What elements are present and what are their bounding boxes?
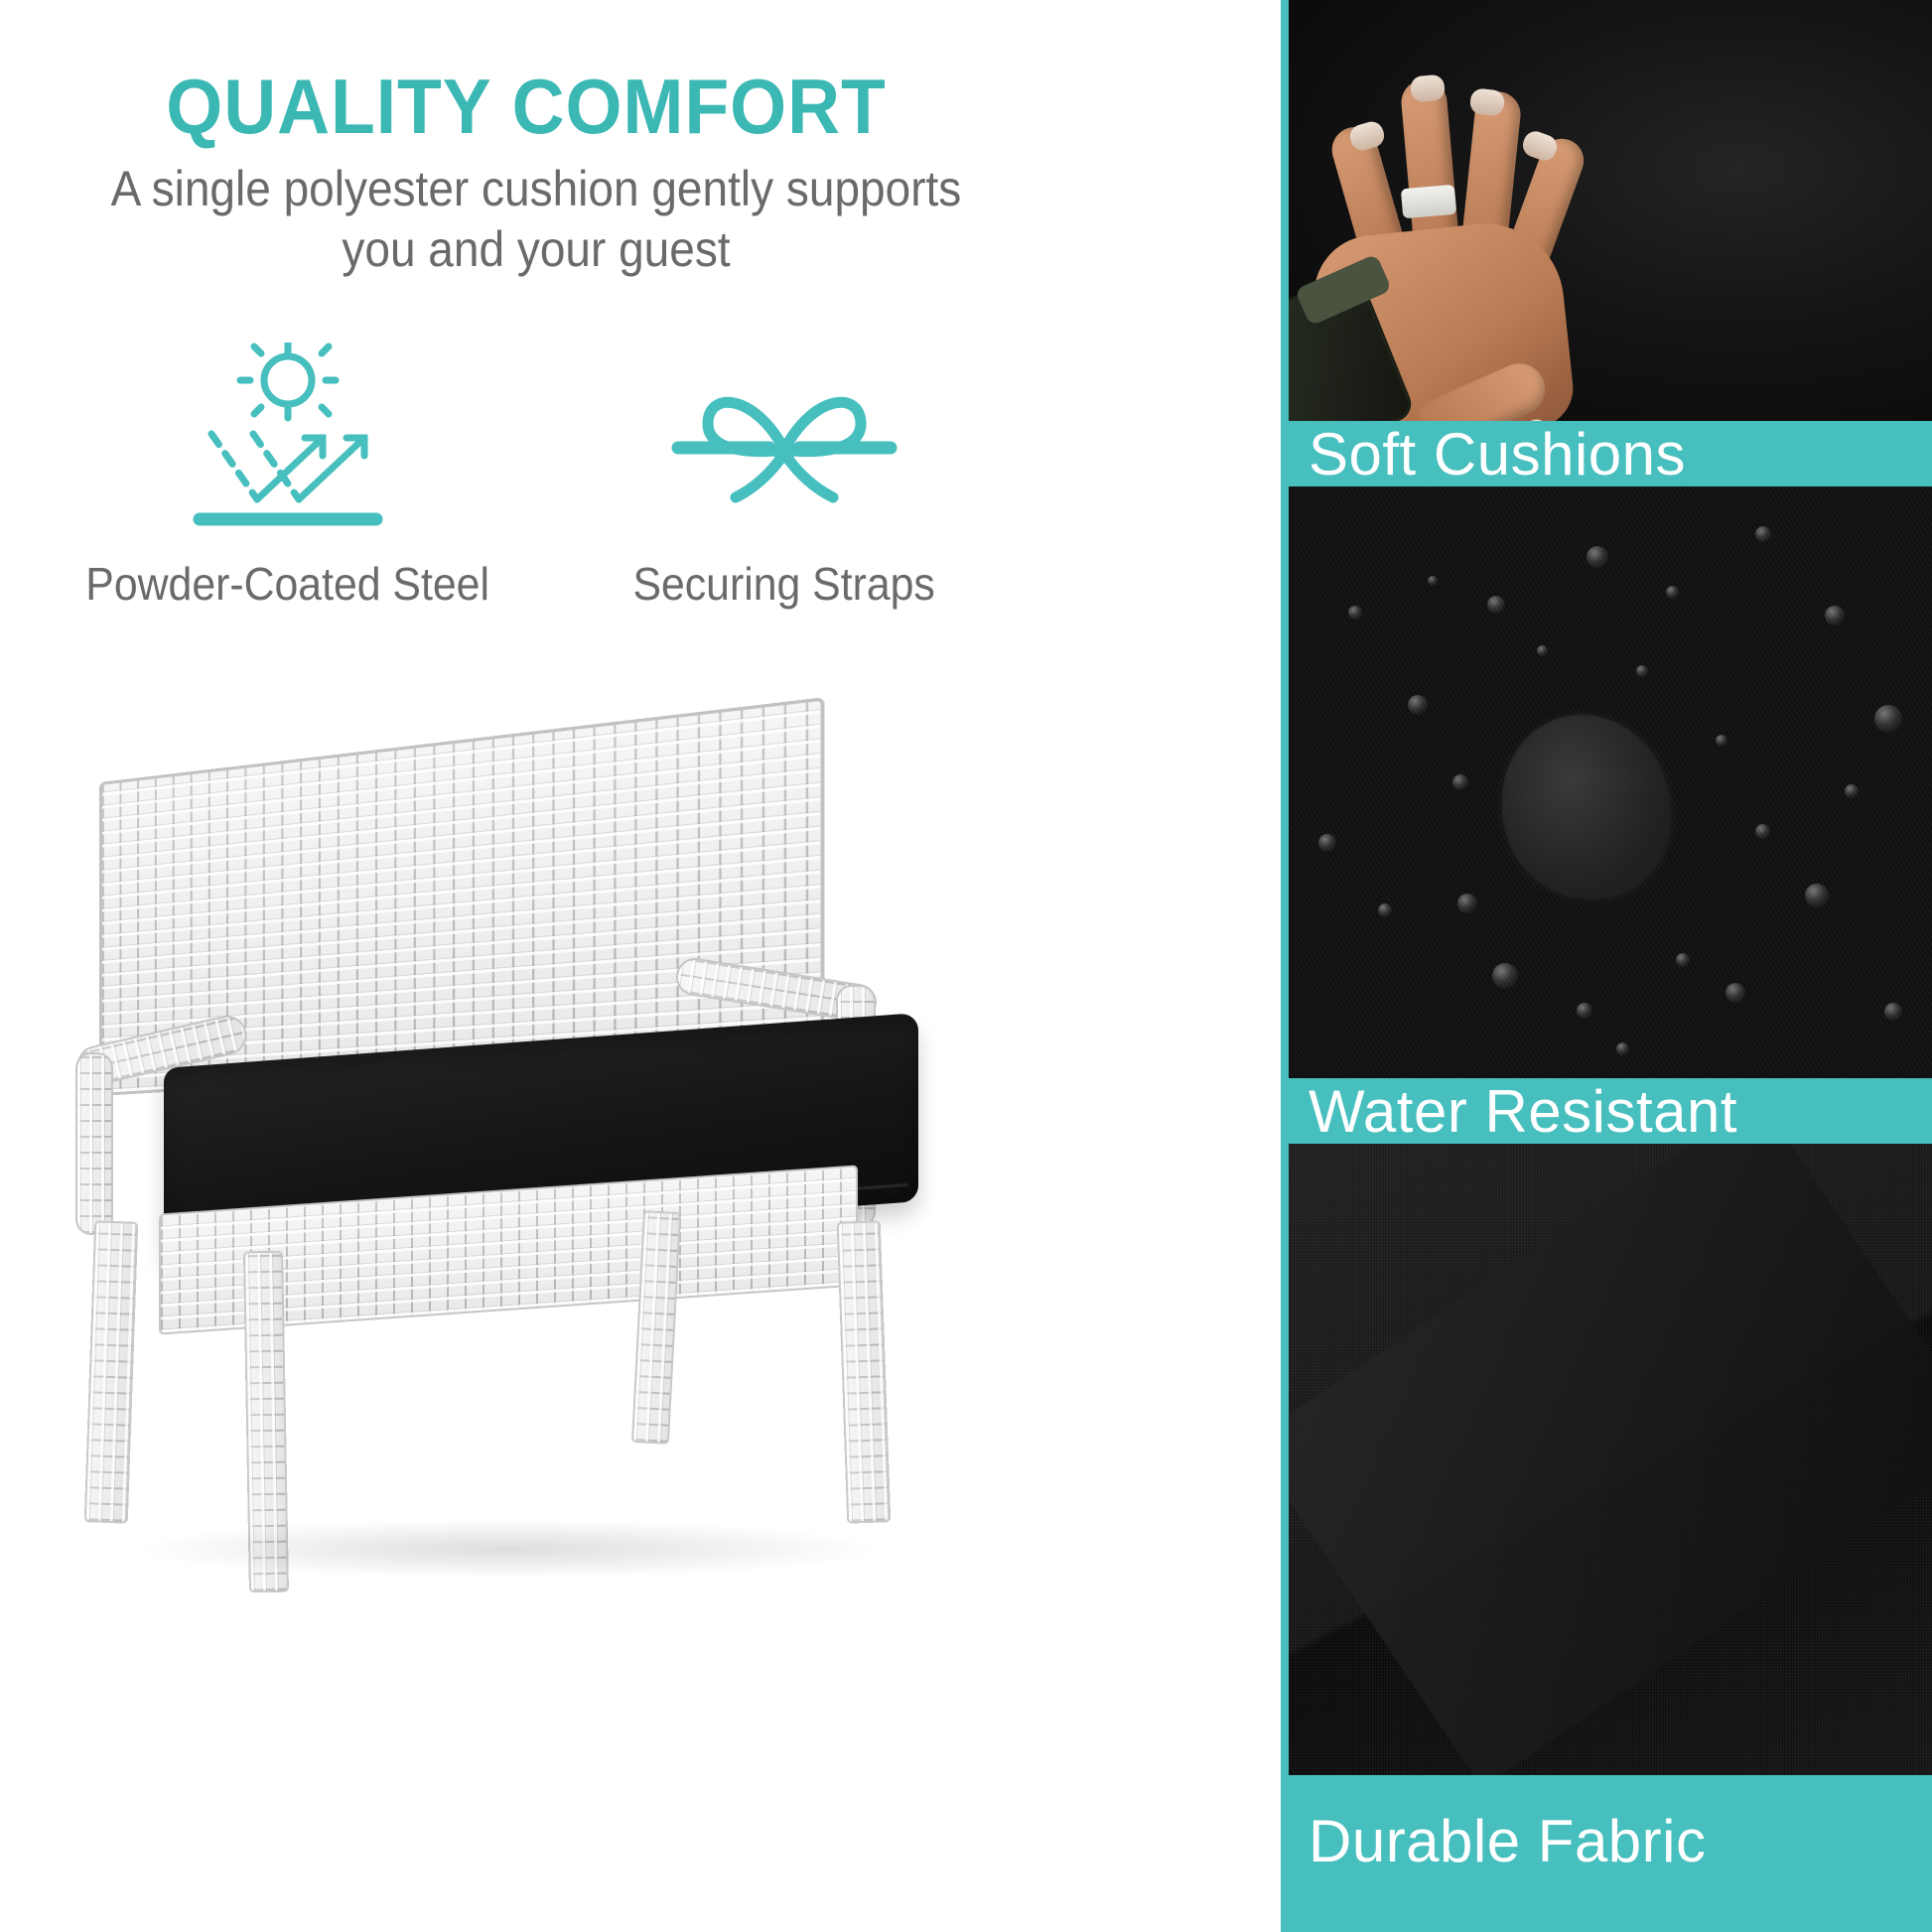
fingernail <box>1469 87 1506 116</box>
bench-arm-left-post <box>75 1052 113 1235</box>
caption-text: Durable Fabric <box>1309 1807 1707 1875</box>
water-droplet <box>1408 695 1428 715</box>
water-droplet <box>1616 1042 1629 1055</box>
water-droplet <box>1725 983 1745 1003</box>
feature-label: Securing Straps <box>633 559 935 611</box>
caption-soft-cushions: Soft Cushions <box>1281 421 1932 486</box>
water-droplet <box>1845 784 1859 798</box>
water-droplet <box>1676 953 1690 967</box>
water-droplet <box>1537 645 1548 656</box>
bench-leg-front-left <box>84 1220 139 1523</box>
right-feature-panel-column: Soft Cushions <box>1281 0 1932 1932</box>
water-droplet <box>1805 884 1829 907</box>
water-droplet <box>1716 735 1727 747</box>
feature-securing-straps: Securing Straps <box>536 343 1033 700</box>
caption-text: Water Resistant <box>1309 1077 1737 1146</box>
water-droplet <box>1348 606 1362 620</box>
feature-icon-row: Powder-Coated Steel Securing Straps <box>40 343 1033 700</box>
water-droplet <box>1884 1003 1902 1021</box>
bench-floor-shadow <box>129 1519 884 1579</box>
hand-pressing-cushion-photo <box>1289 0 1932 421</box>
left-content-column: QUALITY COMFORT A single polyester cushi… <box>0 0 1281 1932</box>
ribbon-bow-icon <box>670 343 898 541</box>
water-droplet <box>1487 596 1505 614</box>
product-feature-infographic: QUALITY COMFORT A single polyester cushi… <box>0 0 1932 1932</box>
water-droplet <box>1378 903 1392 917</box>
page-subtitle: A single polyester cushion gently suppor… <box>97 159 974 280</box>
silicone-ring <box>1401 185 1456 219</box>
page-title: QUALITY COMFORT <box>32 62 1021 152</box>
feature-powder-coated-steel: Powder-Coated Steel <box>40 343 536 700</box>
product-photo-bench <box>0 735 1281 1932</box>
caption-text: Soft Cushions <box>1309 420 1686 488</box>
water-droplet <box>1428 576 1438 586</box>
water-droplet <box>1755 824 1770 839</box>
water-droplet <box>1457 894 1477 913</box>
water-droplet <box>1874 705 1902 733</box>
water-droplet <box>1825 606 1845 625</box>
water-droplet <box>1587 546 1608 568</box>
feature-label: Powder-Coated Steel <box>86 559 490 611</box>
caption-durable-fabric: Durable Fabric <box>1281 1775 1932 1932</box>
caption-water-resistant: Water Resistant <box>1281 1078 1932 1144</box>
water-droplets-on-fabric-photo <box>1289 486 1932 1078</box>
water-droplet <box>1452 774 1468 790</box>
wicker-bench <box>69 755 1162 1866</box>
water-droplet <box>1636 665 1648 677</box>
black-fabric-closeup-photo <box>1289 1144 1932 1775</box>
water-droplet <box>1577 1003 1592 1019</box>
bench-leg-rear-right <box>837 1220 892 1523</box>
water-droplet <box>1666 586 1679 599</box>
water-droplet <box>1492 963 1518 989</box>
sun-reflect-icon <box>174 343 402 541</box>
hand-illustration <box>1289 40 1745 421</box>
water-droplet <box>1755 526 1771 542</box>
water-droplet <box>1318 834 1336 852</box>
